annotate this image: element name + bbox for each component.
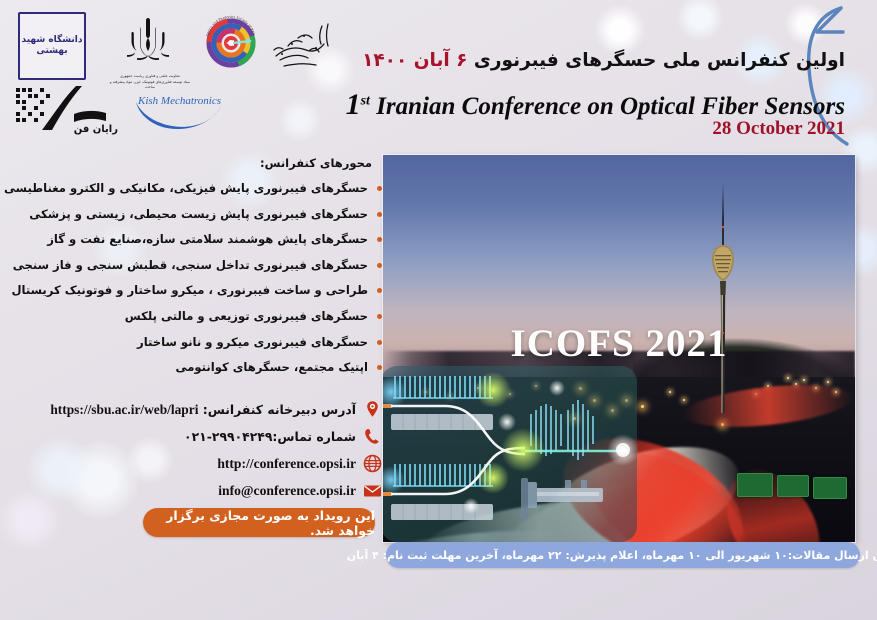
topic-item: اپتیک مجتمع، حسگرهای کوانتومی xyxy=(12,355,382,381)
contact-address-row: آدرس دبیرخانه کنفرانس: https://sbu.ac.ir… xyxy=(10,396,382,423)
highway-sign xyxy=(777,475,809,497)
ordinal-suffix: st xyxy=(361,94,370,109)
icofs-event-title: ICOFS 2021 xyxy=(383,321,855,366)
topics-heading: محورهای کنفرانس: xyxy=(260,156,372,170)
conference-poster: دانشگاه شهید بهشتی معاونت علمی و فناوری … xyxy=(0,0,877,620)
iran-emblem-caption-line1: معاونت علمی و فناوری ریاست جمهوری xyxy=(108,74,192,80)
iran-emblem-icon xyxy=(118,14,178,70)
contact-address-label: آدرس دبیرخانه کنفرانس: xyxy=(203,402,356,417)
highway-sign xyxy=(737,473,773,497)
conference-hero-photo: ICOFS 2021 xyxy=(383,155,855,542)
virtual-event-notice: این رویداد به صورت مجازی برگزار خواهد شد… xyxy=(143,508,375,537)
sbu-university-logo: دانشگاه شهید بهشتی xyxy=(18,12,86,80)
milad-tower-icon xyxy=(703,183,743,413)
rayanfan-label: رایان فن xyxy=(12,124,118,135)
location-pin-icon xyxy=(363,400,382,419)
contact-website-row: http://conference.opsi.ir xyxy=(10,450,382,477)
topics-list: حسگرهای فیبرنوری پایش فیزیکی، مکانیکی و … xyxy=(12,176,382,381)
contact-email-text[interactable]: info@conference.opsi.ir xyxy=(218,483,356,499)
important-dates-banner: زمان ارسال مقالات:۱۰ شهریور الی ۱۰ مهرما… xyxy=(386,542,860,568)
globe-icon xyxy=(363,454,382,473)
topic-item: حسگرهای فیبرنوری پایش فیزیکی، مکانیکی و … xyxy=(12,176,382,202)
conference-title-en-text: Iranian Conference on Optical Fiber Sens… xyxy=(376,93,845,120)
optical-fiber-chip-illustration xyxy=(383,360,643,542)
topic-item: حسگرهای فیبرنوری توزیعی و مالتی پلکس xyxy=(12,304,382,330)
conference-date-fa: ۶ آبان ۱۴۰۰ xyxy=(362,50,467,71)
envelope-icon xyxy=(363,481,382,500)
contact-phone-value: ۲۹۹۰۴۲۴۹-۰۲۱ xyxy=(184,429,272,444)
contact-website-text[interactable]: http://conference.opsi.ir xyxy=(217,456,356,472)
topic-item: حسگرهای پایش هوشمند سلامتی سازه،صنایع نف… xyxy=(12,227,382,253)
topic-item: حسگرهای فیبرنوری میکرو و نانو ساختار xyxy=(12,330,382,356)
sponsor-logos-strip: LABINET Laboratory & Industrial Sales Ne… xyxy=(0,572,877,620)
contact-phone-text: شماره تماس:۲۹۹۰۴۲۴۹-۰۲۱ xyxy=(184,429,356,444)
contact-phone-label: شماره تماس: xyxy=(272,429,356,444)
photonics-society-calligraphy-logo xyxy=(268,16,334,72)
topic-item: حسگرهای فیبرنوری تداخل سنجی، قطبش سنجی و… xyxy=(12,253,382,279)
contact-block: آدرس دبیرخانه کنفرانس: https://sbu.ac.ir… xyxy=(10,396,382,504)
conference-title-en: 1st Iranian Conference on Optical Fiber … xyxy=(346,88,845,122)
kish-mechatronics-logo: Kish Mechatronics xyxy=(130,88,226,134)
opsi-society-logo: Optics and Photonics Society of Iran xyxy=(200,10,262,72)
topic-item: طراحی و ساخت فیبرنوری ، میکرو ساختار و ف… xyxy=(12,278,382,304)
contact-address-text: آدرس دبیرخانه کنفرانس: https://sbu.ac.ir… xyxy=(50,402,356,418)
svg-text:Kish Mechatronics: Kish Mechatronics xyxy=(137,95,221,107)
conference-title-fa: اولین کنفرانس ملی حسگرهای فیبرنوری ۶ آبا… xyxy=(362,50,845,71)
highway-sign xyxy=(813,477,847,499)
contact-email-row: info@conference.opsi.ir xyxy=(10,477,382,504)
conference-title-fa-text: اولین کنفرانس ملی حسگرهای فیبرنوری xyxy=(474,50,845,71)
topic-item: حسگرهای فیبرنوری پایش زیست محیطی، زیستی … xyxy=(12,202,382,228)
contact-address-url[interactable]: https://sbu.ac.ir/web/lapri xyxy=(50,402,198,418)
sbu-logo-label: دانشگاه شهید بهشتی xyxy=(20,35,84,58)
ordinal-number: 1 xyxy=(346,88,361,121)
conference-date-en: 28 October 2021 xyxy=(712,118,845,140)
phone-icon xyxy=(363,427,382,446)
contact-phone-row: شماره تماس:۲۹۹۰۴۲۴۹-۰۲۱ xyxy=(10,423,382,450)
